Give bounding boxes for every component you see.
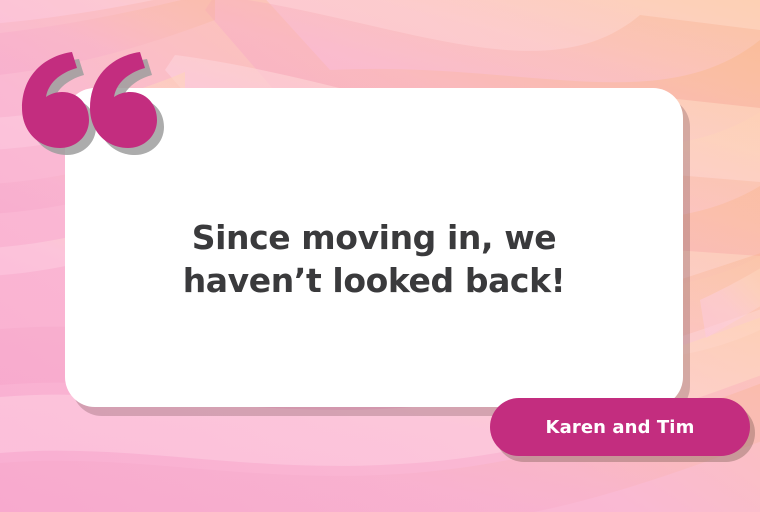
double-quote-open-icon [14,50,164,170]
attribution-name: Karen and Tim [546,417,695,438]
testimonial-card-graphic: Since moving in, we haven’t looked back!… [0,0,760,512]
quote-text: Since moving in, we haven’t looked back! [65,217,683,303]
attribution-pill: Karen and Tim [490,398,750,456]
